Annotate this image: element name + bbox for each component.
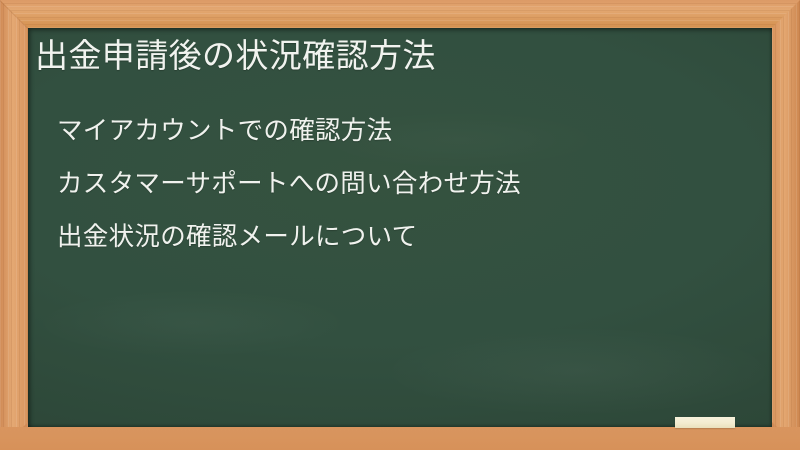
frame-rail-top (0, 0, 800, 28)
chalk-stick-icon (675, 417, 735, 428)
topic-list: マイアカウントでの確認方法 カスタマーサポートへの問い合わせ方法 出金状況の確認… (57, 105, 747, 264)
frame-rail-right (772, 0, 800, 450)
list-item: マイアカウントでの確認方法 (57, 105, 747, 158)
frame-rail-left (0, 0, 28, 450)
list-item: カスタマーサポートへの問い合わせ方法 (57, 158, 747, 211)
chalkboard-surface: 出金申請後の状況確認方法 マイアカウントでの確認方法 カスタマーサポートへの問い… (28, 28, 772, 427)
page-title: 出金申請後の状況確認方法 (35, 34, 755, 78)
board-content: 出金申請後の状況確認方法 マイアカウントでの確認方法 カスタマーサポートへの問い… (28, 28, 772, 427)
chalkboard-slide: 出金申請後の状況確認方法 マイアカウントでの確認方法 カスタマーサポートへの問い… (0, 0, 800, 450)
list-item: 出金状況の確認メールについて (57, 211, 747, 264)
frame-rail-bottom (0, 427, 800, 450)
